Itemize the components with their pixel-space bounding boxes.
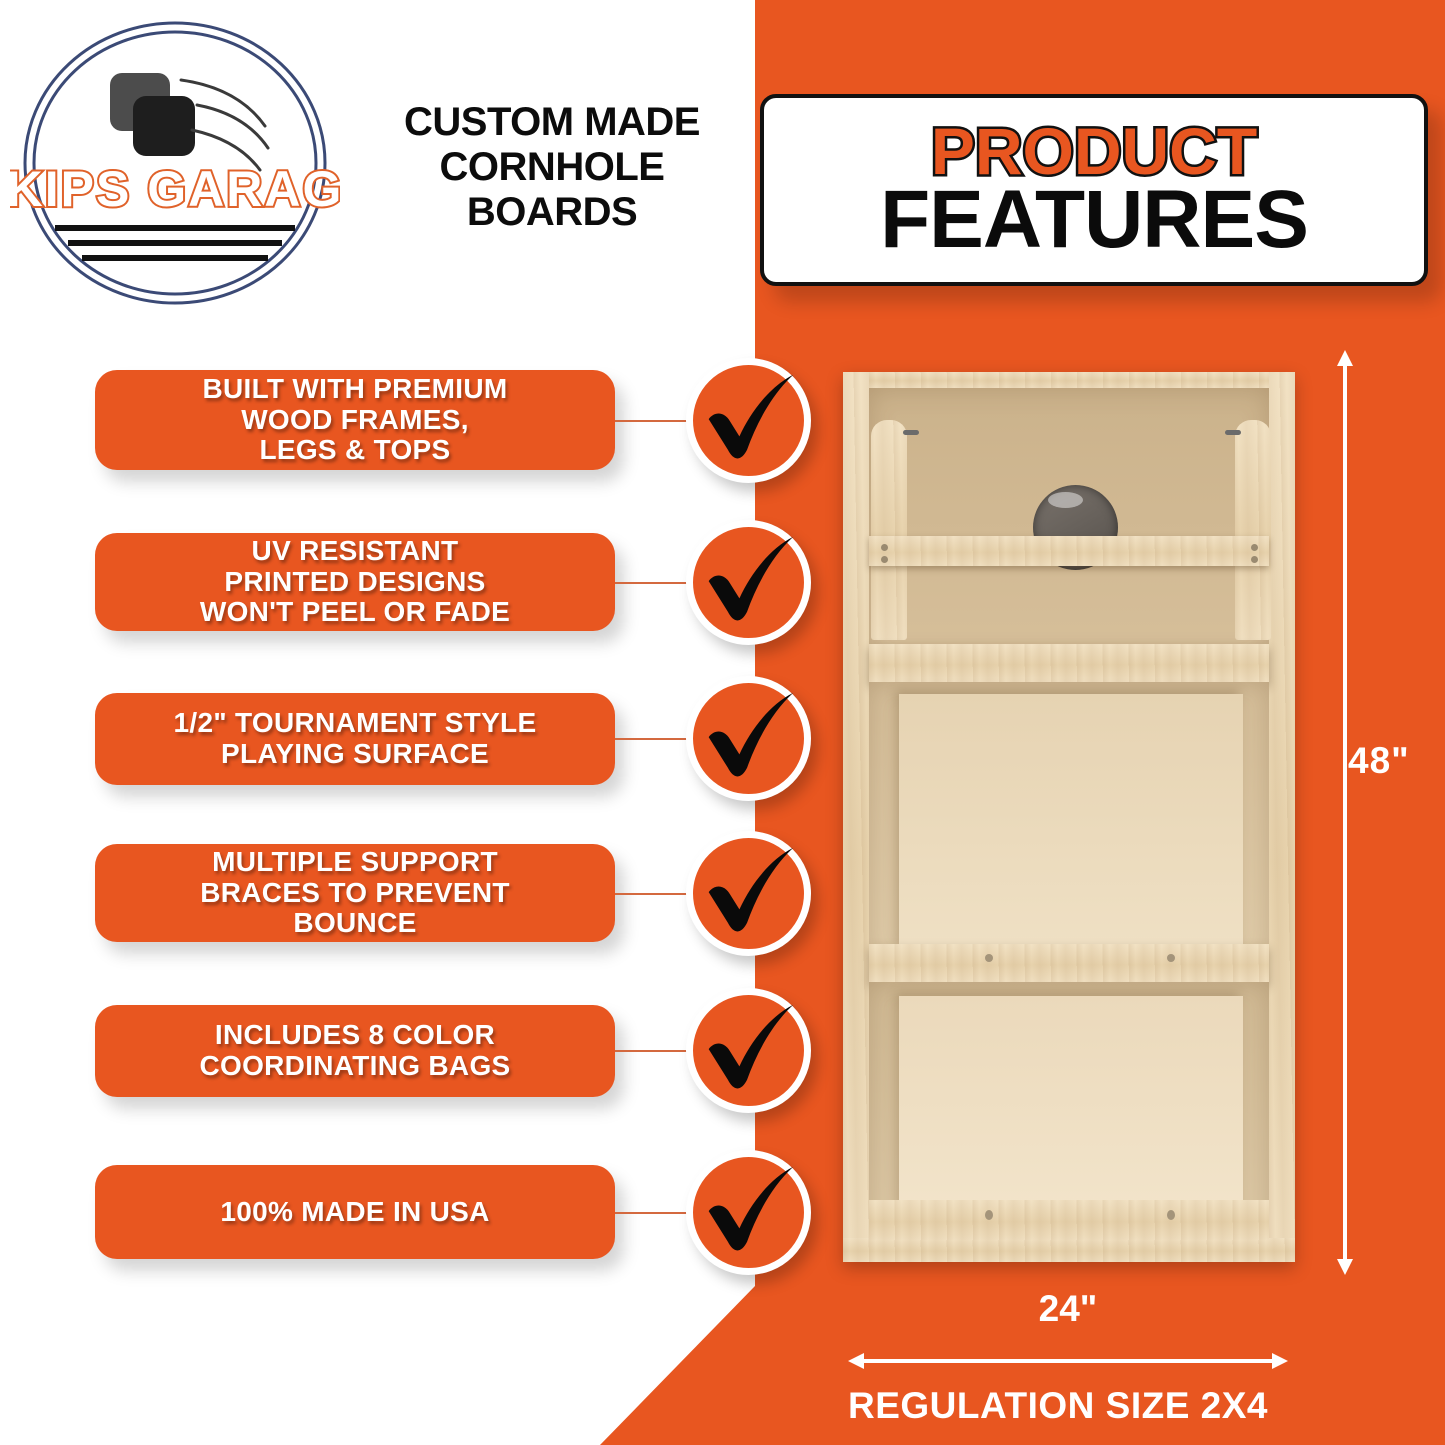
connector-line — [615, 1212, 690, 1214]
feature-pill-tournament-surface[interactable]: 1/2" TOURNAMENT STYLE PLAYING SURFACE — [95, 693, 615, 785]
feature-text-line: COORDINATING BAGS — [199, 1050, 510, 1081]
feature-text-line: 1/2" TOURNAMENT STYLE — [174, 707, 537, 738]
feature-pill-premium-wood[interactable]: BUILT WITH PREMIUM WOOD FRAMES, LEGS & T… — [95, 370, 615, 470]
cornhole-board-photo — [843, 372, 1295, 1262]
feature-text-line: PLAYING SURFACE — [221, 738, 489, 769]
feature-text-line: BOUNCE — [293, 907, 416, 938]
feature-text-line: MULTIPLE SUPPORT — [212, 846, 498, 877]
checkmark-badge-premium-wood — [686, 358, 811, 483]
headline-line-1: CUSTOM MADE — [352, 100, 752, 145]
feature-text-line: WON'T PEEL OR FADE — [200, 596, 510, 627]
connector-line — [615, 420, 690, 422]
feature-pill-support-braces[interactable]: MULTIPLE SUPPORT BRACES TO PREVENT BOUNC… — [95, 844, 615, 942]
checkmark-icon — [701, 691, 797, 787]
product-features-infographic: SKIPS GARAGE CUSTOM MADE CORNHOLE BOARDS… — [0, 0, 1445, 1445]
feature-text-line: PRINTED DESIGNS — [224, 566, 485, 597]
connector-line — [615, 893, 690, 895]
checkmark-icon — [701, 373, 797, 469]
dimension-width-label: 24" — [848, 1288, 1288, 1330]
feature-text-line: UV RESISTANT — [252, 535, 459, 566]
headline-line-3: BOARDS — [352, 190, 752, 235]
feature-text-line: INCLUDES 8 COLOR — [215, 1019, 495, 1050]
feature-text-line: LEGS & TOPS — [259, 434, 450, 465]
product-features-banner: PRODUCT FEATURES — [760, 94, 1428, 286]
regulation-size-label: REGULATION SIZE 2X4 — [848, 1385, 1348, 1427]
checkmark-icon — [701, 1165, 797, 1261]
checkmark-badge-uv-resistant — [686, 520, 811, 645]
checkmark-badge-color-bags — [686, 988, 811, 1113]
dimension-height-arrow — [1330, 350, 1360, 1275]
features-banner-line-2: FEATURES — [880, 181, 1308, 260]
checkmark-badge-made-in-usa — [686, 1150, 811, 1275]
checkmark-icon — [701, 846, 797, 942]
checkmark-icon — [701, 535, 797, 631]
feature-text-line: 100% MADE IN USA — [220, 1197, 489, 1228]
checkmark-badge-tournament-surface — [686, 676, 811, 801]
connector-line — [615, 738, 690, 740]
feature-text-line: BUILT WITH PREMIUM — [202, 373, 507, 404]
brand-logo[interactable]: SKIPS GARAGE — [10, 18, 340, 308]
checkmark-badge-support-braces — [686, 831, 811, 956]
connector-line — [615, 1050, 690, 1052]
feature-text-line: WOOD FRAMES, — [241, 404, 469, 435]
logo-wordmark: SKIPS GARAGE — [10, 161, 340, 217]
dimension-height-label: 48" — [1348, 740, 1410, 782]
page-title: CUSTOM MADE CORNHOLE BOARDS — [352, 100, 752, 234]
feature-pill-made-in-usa[interactable]: 100% MADE IN USA — [95, 1165, 615, 1259]
feature-text-line: BRACES TO PREVENT — [200, 877, 510, 908]
connector-line — [615, 582, 690, 584]
feature-pill-uv-resistant[interactable]: UV RESISTANT PRINTED DESIGNS WON'T PEEL … — [95, 533, 615, 631]
dimension-width-arrow — [848, 1350, 1288, 1372]
headline-line-2: CORNHOLE — [352, 145, 752, 190]
checkmark-icon — [701, 1003, 797, 1099]
feature-pill-color-bags[interactable]: INCLUDES 8 COLOR COORDINATING BAGS — [95, 1005, 615, 1097]
